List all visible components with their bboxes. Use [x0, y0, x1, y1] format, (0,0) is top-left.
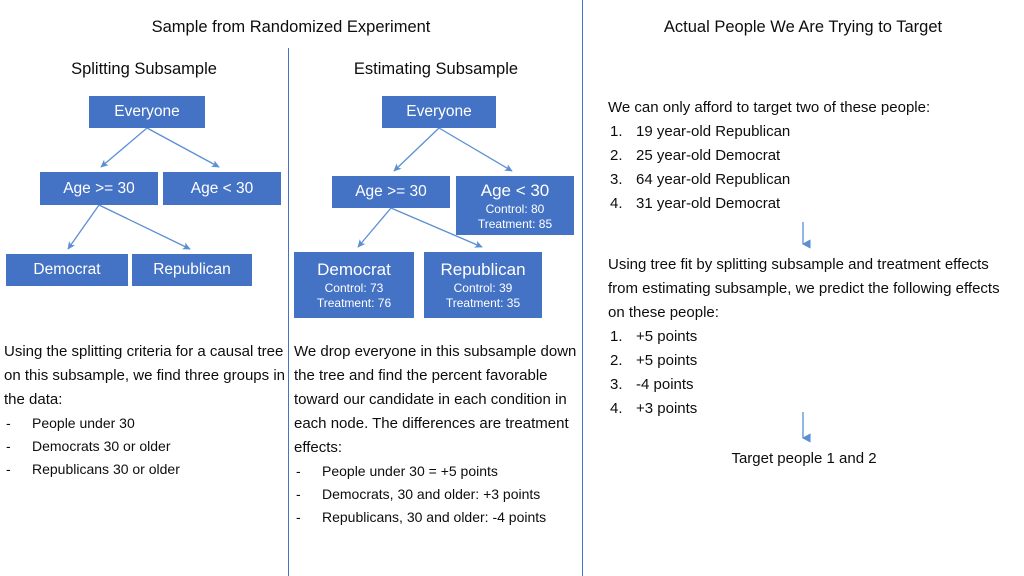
node-label: Republican: [440, 259, 525, 281]
list-item: 3. 64 year-old Republican: [608, 168, 1016, 192]
list-marker: 4.: [608, 192, 636, 216]
list-marker: 2.: [608, 349, 636, 373]
bullet-marker: -: [4, 435, 32, 458]
heading-sample-from-randomized-experiment: Sample from Randomized Experiment: [0, 17, 582, 37]
list-item: 2. +5 points: [608, 349, 1018, 373]
splitting-node-age-lt-30[interactable]: Age < 30: [163, 172, 281, 205]
predicted-effects-list: 1. +5 points 2. +5 points 3. -4 points 4…: [608, 325, 1018, 421]
list-item-label: +3 points: [636, 397, 1018, 421]
list-item: 4. +3 points: [608, 397, 1018, 421]
list-item-label: +5 points: [636, 349, 1018, 373]
list-item: - Republicans, 30 and older: -4 points: [294, 506, 582, 529]
list-item: 4. 31 year-old Democrat: [608, 192, 1016, 216]
heading-splitting-subsample: Splitting Subsample: [0, 59, 288, 79]
splitting-groups-list: - People under 30 - Democrats 30 or olde…: [4, 412, 286, 481]
list-item: 3. -4 points: [608, 373, 1018, 397]
column-divider-left: [288, 48, 289, 576]
node-control-value: Control: 73: [325, 281, 384, 296]
node-control-value: Control: 39: [454, 281, 513, 296]
list-marker: 2.: [608, 144, 636, 168]
node-treatment-value: Treatment: 85: [478, 217, 552, 232]
splitting-subsample-description: Using the splitting criteria for a causa…: [4, 340, 286, 481]
list-item-label: 19 year-old Republican: [636, 120, 1016, 144]
list-marker: 1.: [608, 325, 636, 349]
target-people-paragraph: We can only afford to target two of thes…: [608, 96, 1016, 120]
splitting-node-age-ge-30[interactable]: Age >= 30: [40, 172, 158, 205]
node-label: Everyone: [114, 102, 179, 122]
list-item-label: -4 points: [636, 373, 1018, 397]
list-item: 1. +5 points: [608, 325, 1018, 349]
node-label: Age < 30: [191, 179, 253, 199]
list-item: - Democrats, 30 and older: +3 points: [294, 483, 582, 506]
predicted-effects-description: Using tree fit by splitting subsample an…: [608, 253, 1018, 421]
node-label: Age < 30: [481, 180, 550, 202]
list-item: 1. 19 year-old Republican: [608, 120, 1016, 144]
list-item-label: Democrats, 30 and older: +3 points: [322, 483, 582, 506]
node-label: Age >= 30: [63, 179, 135, 199]
estimating-node-republican[interactable]: Republican Control: 39 Treatment: 35: [424, 252, 542, 318]
node-label: Democrat: [317, 259, 391, 281]
bullet-marker: -: [294, 460, 322, 483]
splitting-node-republican[interactable]: Republican: [132, 254, 252, 286]
splitting-paragraph: Using the splitting criteria for a causa…: [4, 340, 286, 412]
list-marker: 4.: [608, 397, 636, 421]
target-people-list: 1. 19 year-old Republican 2. 25 year-old…: [608, 120, 1016, 216]
list-item-label: People under 30: [32, 412, 286, 435]
node-control-value: Control: 80: [486, 202, 545, 217]
list-marker: 3.: [608, 168, 636, 192]
bullet-marker: -: [294, 483, 322, 506]
predicted-effects-paragraph: Using tree fit by splitting subsample an…: [608, 253, 1018, 325]
list-item: - People under 30 = +5 points: [294, 460, 582, 483]
heading-actual-people-we-are-trying-to-target: Actual People We Are Trying to Target: [582, 17, 1024, 37]
node-label: Everyone: [406, 102, 471, 122]
list-item-label: 25 year-old Democrat: [636, 144, 1016, 168]
list-item-label: 64 year-old Republican: [636, 168, 1016, 192]
column-divider-right: [582, 0, 583, 576]
list-item-label: Republicans, 30 and older: -4 points: [322, 506, 582, 529]
node-label: Age >= 30: [355, 182, 427, 202]
list-item-label: 31 year-old Democrat: [636, 192, 1016, 216]
estimating-subsample-description: We drop everyone in this subsample down …: [294, 340, 582, 529]
estimating-node-democrat[interactable]: Democrat Control: 73 Treatment: 76: [294, 252, 414, 318]
list-item: - People under 30: [4, 412, 286, 435]
heading-estimating-subsample: Estimating Subsample: [290, 59, 582, 79]
list-item-label: People under 30 = +5 points: [322, 460, 582, 483]
node-label: Democrat: [33, 260, 100, 280]
list-item-label: +5 points: [636, 325, 1018, 349]
list-item-label: Democrats 30 or older: [32, 435, 286, 458]
list-item: 2. 25 year-old Democrat: [608, 144, 1016, 168]
list-item: - Republicans 30 or older: [4, 458, 286, 481]
bullet-marker: -: [294, 506, 322, 529]
splitting-node-democrat[interactable]: Democrat: [6, 254, 128, 286]
bullet-marker: -: [4, 458, 32, 481]
node-treatment-value: Treatment: 35: [446, 296, 520, 311]
estimating-effects-list: - People under 30 = +5 points - Democrat…: [294, 460, 582, 529]
estimating-node-age-lt-30[interactable]: Age < 30 Control: 80 Treatment: 85: [456, 176, 574, 235]
list-item: - Democrats 30 or older: [4, 435, 286, 458]
list-marker: 1.: [608, 120, 636, 144]
estimating-paragraph: We drop everyone in this subsample down …: [294, 340, 582, 460]
splitting-node-everyone[interactable]: Everyone: [89, 96, 205, 128]
conclusion-text: Target people 1 and 2: [608, 448, 1000, 470]
target-people-description: We can only afford to target two of thes…: [608, 96, 1016, 216]
list-item-label: Republicans 30 or older: [32, 458, 286, 481]
estimating-node-age-ge-30[interactable]: Age >= 30: [332, 176, 450, 208]
bullet-marker: -: [4, 412, 32, 435]
node-treatment-value: Treatment: 76: [317, 296, 391, 311]
list-marker: 3.: [608, 373, 636, 397]
estimating-node-everyone[interactable]: Everyone: [382, 96, 496, 128]
node-label: Republican: [153, 260, 231, 280]
